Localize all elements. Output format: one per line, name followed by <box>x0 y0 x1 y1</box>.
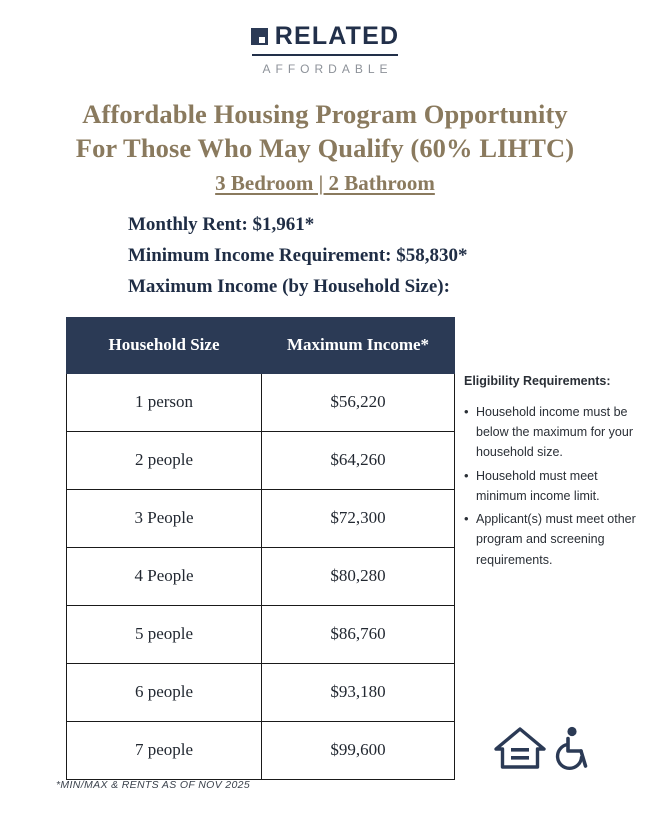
page-title: Affordable Housing Program Opportunity F… <box>0 98 650 196</box>
cell-maximum-income: $56,220 <box>262 373 455 431</box>
bullet-icon: • <box>464 401 469 422</box>
related-square-icon <box>251 28 268 45</box>
eligibility-title: Eligibility Requirements: <box>464 373 644 389</box>
eligibility-item-text: Applicant(s) must meet other program and… <box>476 512 636 567</box>
cell-maximum-income: $64,260 <box>262 431 455 489</box>
title-line-1: Affordable Housing Program Opportunity <box>0 98 650 132</box>
cell-household-size: 4 People <box>67 547 262 605</box>
table-row: 5 people $86,760 <box>67 605 455 663</box>
maximum-income-line: Maximum Income (by Household Size): <box>128 272 650 303</box>
minimum-income-line: Minimum Income Requirement: $58,830* <box>128 241 650 272</box>
monthly-rent-line: Monthly Rent: $1,961* <box>128 210 650 241</box>
unit-subtitle: 3 Bedroom | 2 Bathroom <box>0 171 650 196</box>
cell-household-size: 5 people <box>67 605 262 663</box>
table-row: 2 people $64,260 <box>67 431 455 489</box>
cell-household-size: 1 person <box>67 373 262 431</box>
compliance-icons <box>493 725 594 771</box>
logo-wordmark: RELATED <box>275 24 400 49</box>
brand-logo: RELATED AFFORDABLE <box>0 0 650 76</box>
table-row: 1 person $56,220 <box>67 373 455 431</box>
header-maximum-income: Maximum Income* <box>262 317 455 373</box>
eligibility-item-text: Household income must be below the maxim… <box>476 405 633 460</box>
eligibility-list: • Household income must be below the max… <box>464 402 644 570</box>
logo-row: RELATED <box>251 24 400 49</box>
table-row: 4 People $80,280 <box>67 547 455 605</box>
list-item: • Household income must be below the max… <box>464 402 644 463</box>
pricing-details: Monthly Rent: $1,961* Minimum Income Req… <box>128 210 650 302</box>
title-line-2: For Those Who May Qualify (60% LIHTC) <box>0 132 650 166</box>
table-header-row: Household Size Maximum Income* <box>67 317 455 373</box>
logo-subword: AFFORDABLE <box>0 62 650 76</box>
cell-maximum-income: $80,280 <box>262 547 455 605</box>
eligibility-item-text: Household must meet minimum income limit… <box>476 469 600 503</box>
table-head: Household Size Maximum Income* <box>67 317 455 373</box>
table-row: 3 People $72,300 <box>67 489 455 547</box>
equal-housing-opportunity-icon <box>493 725 547 771</box>
cell-household-size: 2 people <box>67 431 262 489</box>
page-footer: *MIN/MAX & RENTS AS OF NOV 2025 <box>0 703 650 813</box>
bullet-icon: • <box>464 508 469 529</box>
cell-maximum-income: $72,300 <box>262 489 455 547</box>
cell-household-size: 3 People <box>67 489 262 547</box>
cell-maximum-income: $86,760 <box>262 605 455 663</box>
eligibility-panel: Eligibility Requirements: • Household in… <box>464 317 644 573</box>
flyer-page: { "logo": { "mark_icon": "related-square… <box>0 0 650 813</box>
list-item: • Household must meet minimum income lim… <box>464 466 644 507</box>
wheelchair-accessibility-icon <box>552 725 594 771</box>
footnote-text: *MIN/MAX & RENTS AS OF NOV 2025 <box>56 779 250 791</box>
header-household-size: Household Size <box>67 317 262 373</box>
list-item: • Applicant(s) must meet other program a… <box>464 509 644 570</box>
bullet-icon: • <box>464 465 469 486</box>
logo-divider-rule <box>252 54 398 56</box>
